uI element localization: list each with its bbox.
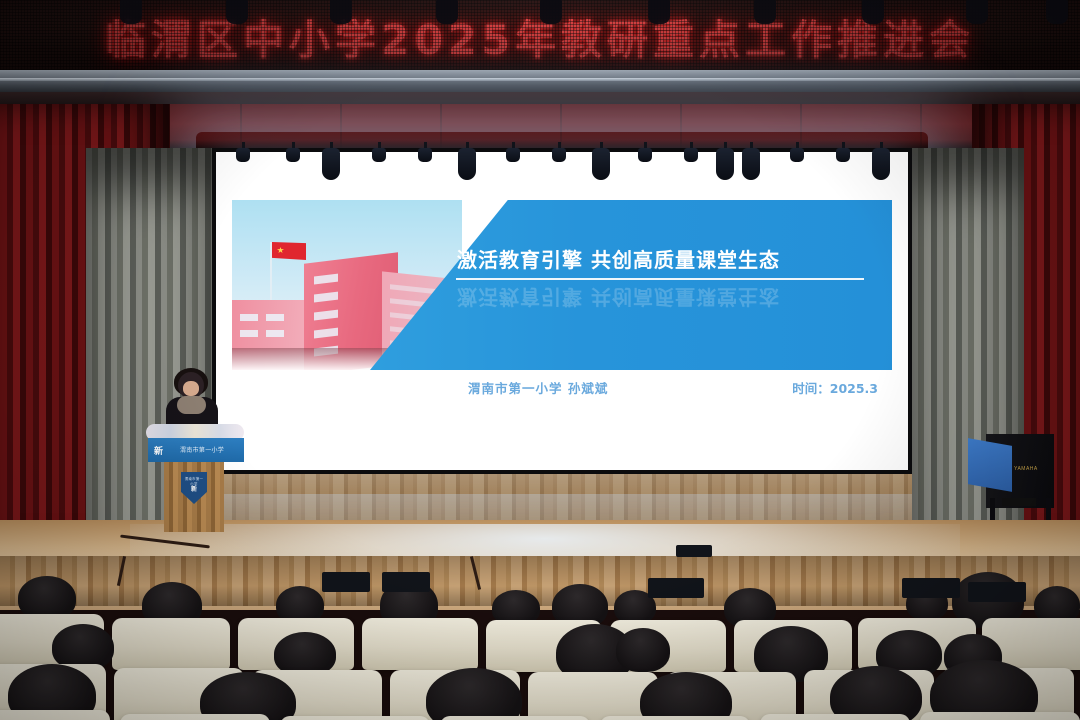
slide-date: 时间：2025.3 bbox=[792, 378, 878, 397]
stage-light-icon bbox=[552, 142, 566, 162]
podium-banner-label: 渭南市第一小学 bbox=[180, 445, 236, 455]
ceiling-lamp-icon bbox=[966, 0, 988, 24]
stage-light-icon bbox=[592, 142, 610, 180]
ceiling-lamp-icon bbox=[436, 0, 458, 24]
back-row-monitor bbox=[322, 572, 370, 592]
seat bbox=[920, 712, 1080, 720]
slide-title: 激活教育引擎 共创高质量课堂生态 bbox=[457, 244, 877, 273]
speaker-face bbox=[183, 381, 199, 396]
seat bbox=[760, 714, 910, 720]
crest-top-text: 渭南市第一小学 bbox=[183, 476, 205, 481]
ceiling-lamp-icon bbox=[648, 0, 670, 24]
seat bbox=[280, 716, 430, 720]
led-screen: 激活教育引擎 共创高质量课堂生态 激活教育引擎 共创高质量课堂生态 渭南市第一小… bbox=[216, 152, 908, 470]
crest-mark: 新 bbox=[185, 484, 203, 491]
back-row-monitor bbox=[648, 578, 704, 598]
stage-light-icon bbox=[716, 142, 734, 180]
back-row-monitor bbox=[968, 582, 1026, 602]
seat bbox=[528, 672, 658, 720]
attendee-head bbox=[616, 628, 670, 672]
presentation-slide: 激活教育引擎 共创高质量课堂生态 激活教育引擎 共创高质量课堂生态 渭南市第一小… bbox=[232, 200, 892, 418]
ceiling-lamp-icon bbox=[862, 0, 884, 24]
stage-light-icon bbox=[418, 142, 432, 162]
stage-light-icon bbox=[836, 142, 850, 162]
seat bbox=[362, 618, 478, 670]
stage-light-icon bbox=[684, 142, 698, 162]
stage-light-icon bbox=[322, 142, 340, 180]
flag-icon bbox=[272, 242, 306, 260]
slide-title-rule bbox=[456, 278, 864, 280]
floor-monitor bbox=[676, 545, 712, 557]
ceiling-lamp-icon bbox=[1046, 0, 1068, 24]
back-row-monitor bbox=[902, 578, 960, 598]
stage-light-icon bbox=[506, 142, 520, 162]
ceiling-lamp-icon bbox=[120, 0, 142, 24]
stage-light-icon bbox=[236, 142, 250, 162]
piano-cover bbox=[968, 438, 1012, 492]
stage-light-icon bbox=[742, 142, 760, 180]
truss-rail bbox=[0, 78, 1080, 81]
ceiling-lamp-icon bbox=[226, 0, 248, 24]
slide-footer: 渭南市第一小学 孙斌斌 时间：2025.3 bbox=[468, 378, 878, 397]
stage-light-icon bbox=[372, 142, 386, 162]
ceiling-lamp-icon bbox=[330, 0, 352, 24]
piano-bench bbox=[1002, 498, 1036, 506]
piano-brand-label: YAMAHA bbox=[1014, 466, 1038, 472]
seat bbox=[120, 714, 270, 720]
seat bbox=[0, 710, 110, 720]
stage-light-icon bbox=[286, 142, 300, 162]
lighting-truss bbox=[0, 70, 1080, 92]
slide-author: 渭南市第一小学 孙斌斌 bbox=[468, 378, 608, 397]
podium-logo-mark: 新 bbox=[154, 444, 176, 455]
seat bbox=[112, 618, 230, 670]
slide-title-reflection: 激活教育引擎 共创高质量课堂生态 bbox=[457, 284, 877, 313]
auditorium-scene: 临渭区中小学2025年教研重点工作推进会 bbox=[0, 0, 1080, 720]
ceiling-lamp-icon bbox=[540, 0, 562, 24]
stage-light-icon bbox=[790, 142, 804, 162]
attendee-head bbox=[830, 666, 922, 720]
stage-light-icon bbox=[872, 142, 890, 180]
stage-light-icon bbox=[458, 142, 476, 180]
seat bbox=[600, 716, 750, 720]
stage-light-icon bbox=[638, 142, 652, 162]
back-row-monitor bbox=[382, 572, 430, 592]
ceiling-lamp-icon bbox=[754, 0, 776, 24]
seat bbox=[440, 716, 590, 720]
podium-with-speaker: 新 渭南市第一小学 渭南市第一小学 新 bbox=[140, 372, 246, 532]
speaker-scarf bbox=[177, 396, 206, 414]
piano: YAMAHA bbox=[968, 428, 1054, 520]
